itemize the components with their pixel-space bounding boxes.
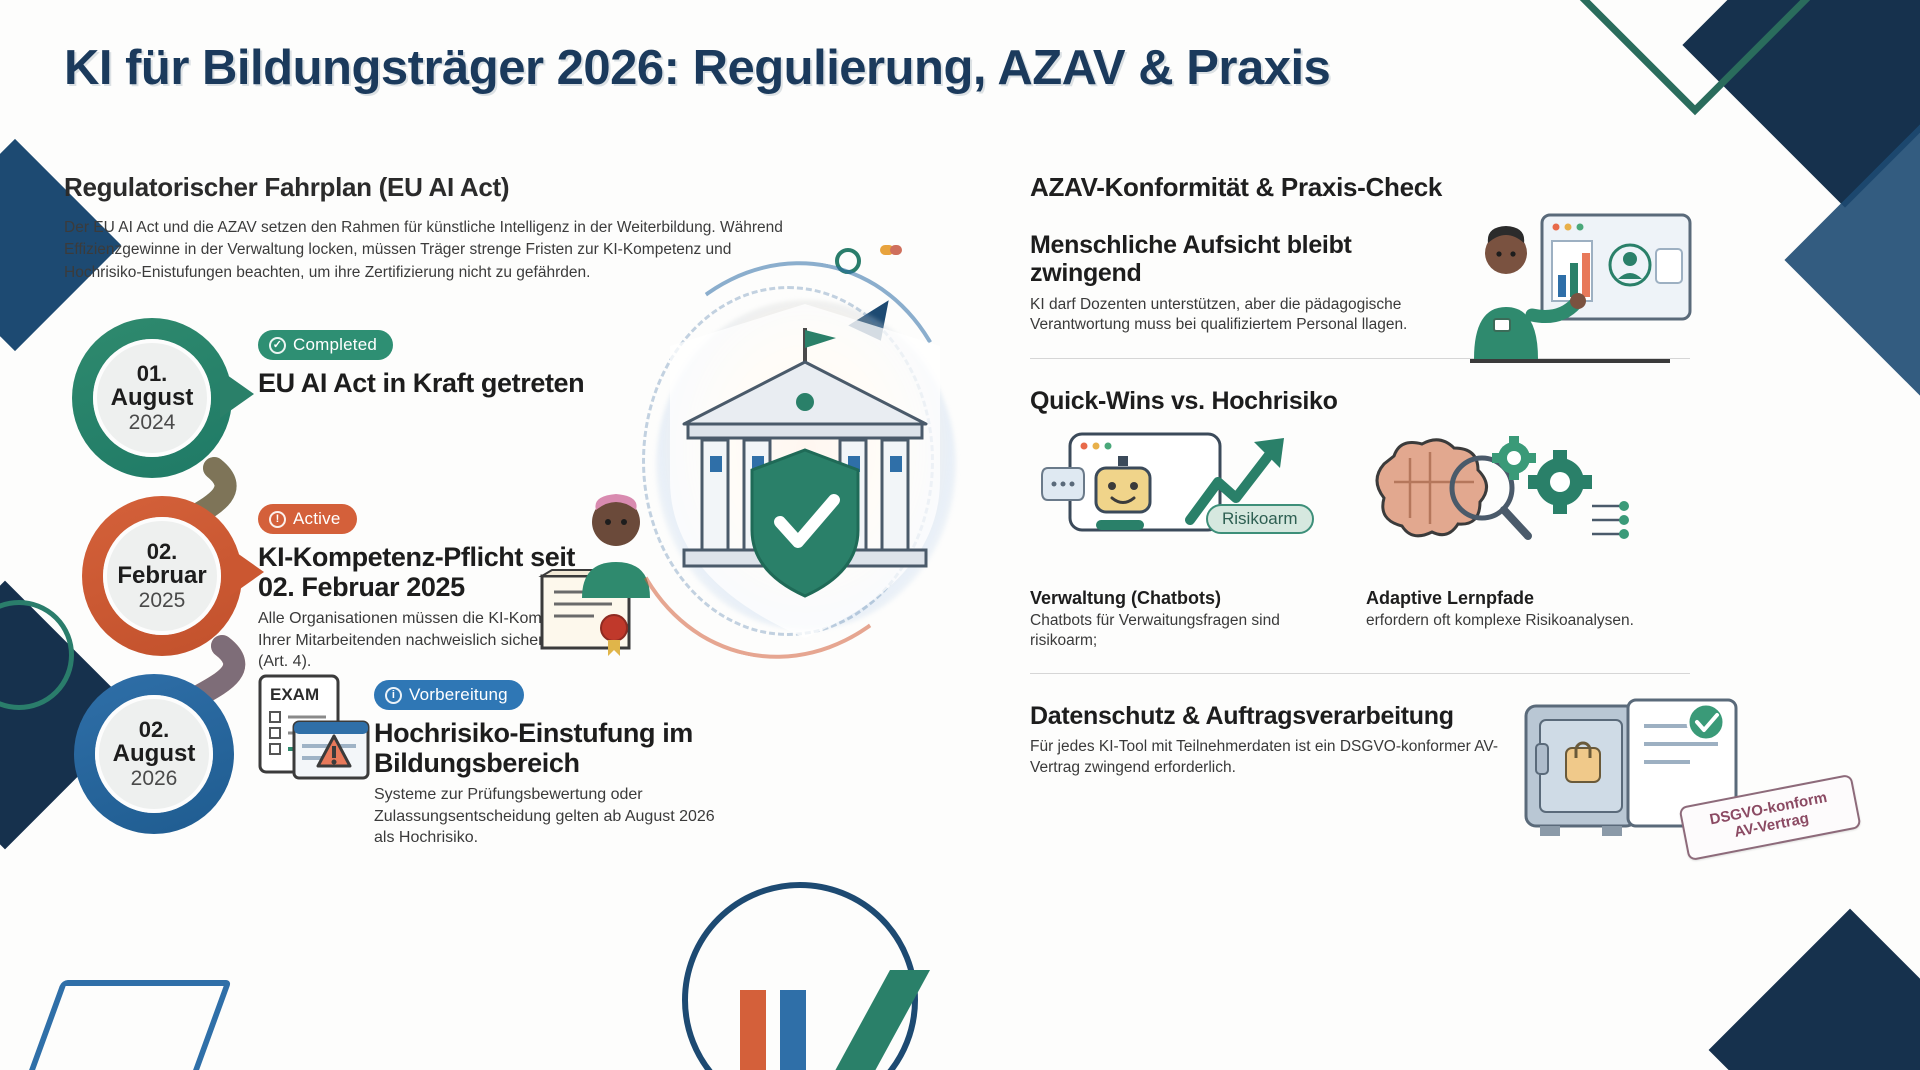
exclamation-circle-icon: ! xyxy=(269,511,286,528)
decorative-outline-bottom-left xyxy=(18,980,232,1070)
timeline-node-1: 01. August 2024 xyxy=(72,318,232,478)
institution-shield-icon xyxy=(640,290,970,660)
decorative-ring-left xyxy=(0,600,74,710)
timeline-node-3-date: 02. August 2026 xyxy=(95,695,213,813)
status-badge-active-label: Active xyxy=(293,509,341,529)
status-badge-vorbereitung-label: Vorbereitung xyxy=(409,685,508,705)
quickwins-column-verwaltung: Verwaltung (Chatbots) Chatbots für Verwa… xyxy=(1030,588,1330,651)
quickwins-columns: Verwaltung (Chatbots) Chatbots für Verwa… xyxy=(1030,588,1860,651)
timeline-item-3-text: Systeme zur Prüfungsbewertung oder Zulas… xyxy=(374,784,734,848)
quickwins-column-verwaltung-text: Chatbots für Verwaitungsfragen sind risi… xyxy=(1030,611,1330,651)
quickwins-column-verwaltung-heading: Verwaltung (Chatbots) xyxy=(1030,588,1330,609)
timeline-node-3-year: 2026 xyxy=(131,768,178,790)
status-badge-active: ! Active xyxy=(258,504,357,534)
page-title: KI für Bildungsträger 2026: Regulierung,… xyxy=(64,40,1564,96)
status-badge-completed: ✓ Completed xyxy=(258,330,393,360)
timeline-node-3-month: August xyxy=(113,741,196,766)
infographic-canvas: KI für Bildungsträger 2026: Regulierung,… xyxy=(0,0,1920,1070)
right-block-datenschutz: Datenschutz & Auftragsverarbeitung Für j… xyxy=(1030,702,1860,779)
right-section-heading: AZAV-Konformität & Praxis-Check xyxy=(1030,172,1860,203)
timeline-item-3-title: Hochrisiko-Einstufung im Bildungsbereich xyxy=(374,718,734,778)
info-circle-icon: i xyxy=(385,687,402,704)
timeline-node-1-month: August xyxy=(111,385,194,410)
brain-gears-risk-icon xyxy=(1364,424,1644,574)
quickwins-column-lernpfade: Adaptive Lernpfade erfordern oft komplex… xyxy=(1366,588,1666,651)
timeline-node-2-year: 2025 xyxy=(139,590,186,612)
hero-illustration xyxy=(600,250,980,690)
right-block-aufsicht-title: Menschliche Aufsicht bleibt zwingend xyxy=(1030,231,1450,288)
timeline-node-2-day: 02. xyxy=(147,540,178,563)
right-column: AZAV-Konformität & Praxis-Check Menschli… xyxy=(1030,172,1860,779)
right-block-datenschutz-text: Für jedes KI-Tool mit Teilnehmerdaten is… xyxy=(1030,737,1510,779)
timeline-node-2-date: 02. Februar 2025 xyxy=(103,517,221,635)
quickwins-column-lernpfade-text: erfordern oft komplexe Risikoanalysen. xyxy=(1366,611,1666,631)
status-badge-vorbereitung: i Vorbereitung xyxy=(374,680,524,710)
status-badge-completed-label: Completed xyxy=(293,335,377,355)
decorative-diamond-bottom-right xyxy=(1709,909,1920,1070)
timeline-node-2-month: Februar xyxy=(117,563,206,588)
chatbot-growth-icon xyxy=(1040,424,1310,574)
timeline-node-1-day: 01. xyxy=(137,362,168,385)
timeline-node-3-day: 02. xyxy=(139,718,170,741)
exam-document-icon: EXAM xyxy=(250,670,380,810)
right-block-quickwins-title: Quick-Wins vs. Hochrisiko xyxy=(1030,387,1860,415)
exam-label: EXAM xyxy=(270,685,319,704)
teacher-dashboard-icon xyxy=(1470,209,1700,389)
right-block-quickwins: Quick-Wins vs. Hochrisiko Risikoarm xyxy=(1030,387,1860,674)
timeline-item-1: ✓ Completed EU AI Act in Kraft getreten xyxy=(258,330,588,398)
right-block-datenschutz-title: Datenschutz & Auftragsverarbeitung xyxy=(1030,702,1510,730)
left-section-heading: Regulatorischer Fahrplan (EU AI Act) xyxy=(64,172,864,203)
decorative-outline-top-right xyxy=(1575,0,1815,115)
right-block-aufsicht-text: KI darf Dozenten unterstützen, aber die … xyxy=(1030,295,1450,337)
check-circle-icon: ✓ xyxy=(269,337,286,354)
quickwins-column-lernpfade-heading: Adaptive Lernpfade xyxy=(1366,588,1666,609)
timeline-node-2: 02. Februar 2025 xyxy=(82,496,242,656)
risk-badge-risikoarm: Risikoarm xyxy=(1206,504,1314,534)
right-block-aufsicht: Menschliche Aufsicht bleibt zwingend KI … xyxy=(1030,231,1860,359)
timeline-item-1-title: EU AI Act in Kraft getreten xyxy=(258,368,588,398)
divider-2 xyxy=(1030,673,1690,674)
timeline-node-1-pointer xyxy=(220,370,254,418)
timeline-item-3: i Vorbereitung Hochrisiko-Einstufung im … xyxy=(374,680,734,848)
timeline-node-1-date: 01. August 2024 xyxy=(93,339,211,457)
timeline-node-3: 02. August 2026 xyxy=(74,674,234,834)
timeline-node-1-year: 2024 xyxy=(129,412,176,434)
